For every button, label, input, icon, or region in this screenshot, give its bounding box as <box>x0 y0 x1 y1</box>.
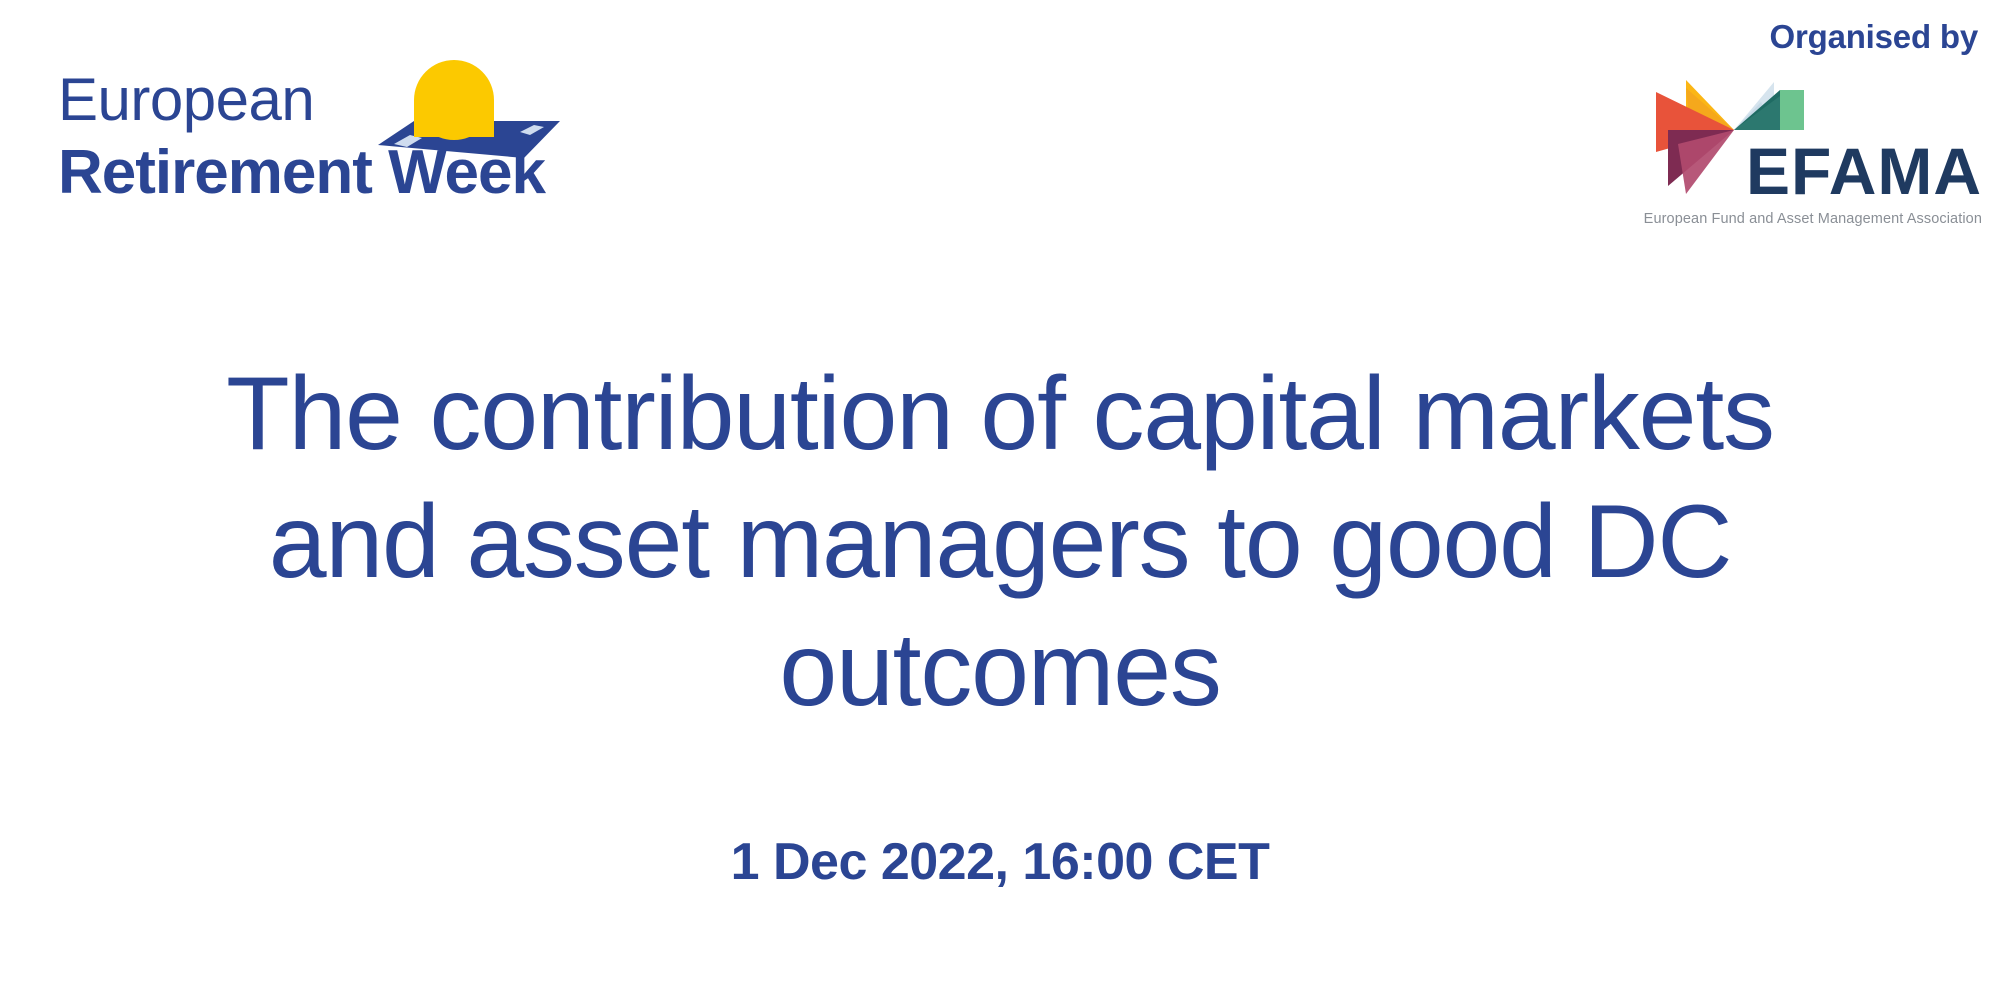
efama-wordmark: EFAMA <box>1746 138 1982 204</box>
page-title: The contribution of capital markets and … <box>0 350 2000 734</box>
event-date-time: 1 Dec 2022, 16:00 CET <box>0 832 2000 892</box>
title-line-2: and asset managers to good DC <box>0 478 2000 606</box>
erw-logo-line-european: European <box>58 70 314 130</box>
european-retirement-week-logo: European Retirement Week <box>58 70 698 250</box>
efama-tagline: European Fund and Asset Management Assoc… <box>1644 211 1982 227</box>
efama-organiser-block: Organised by <box>1626 18 1986 233</box>
title-line-1: The contribution of capital markets <box>0 350 2000 478</box>
sunrise-over-horizon-icon <box>374 53 564 163</box>
organised-by-label: Organised by <box>1770 18 1979 56</box>
title-line-3: outcomes <box>0 606 2000 734</box>
presentation-title-slide: European Retirement Week Organised by <box>0 0 2000 1000</box>
